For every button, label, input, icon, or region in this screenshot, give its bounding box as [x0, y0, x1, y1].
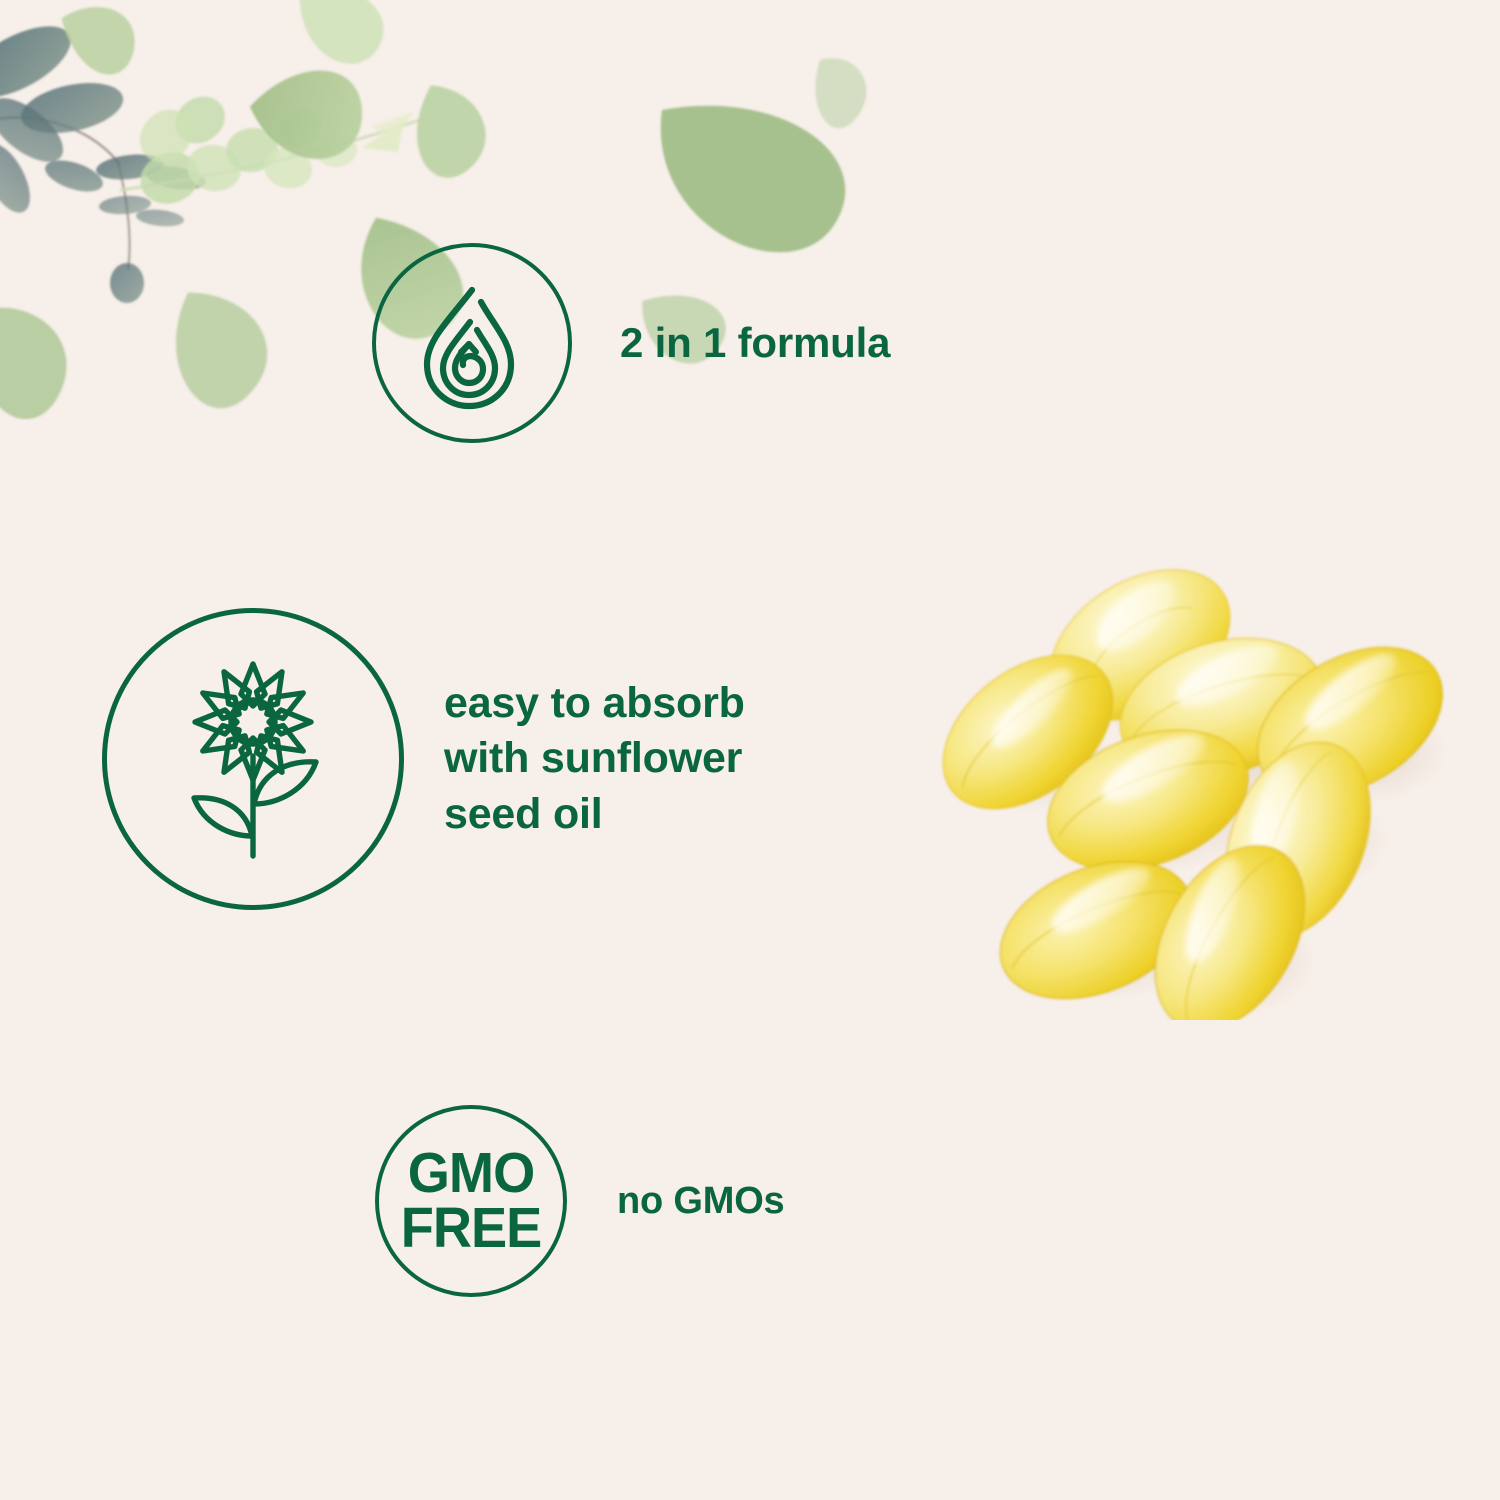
feature-label-absorb: easy to absorb with sunflower seed oil [444, 676, 745, 841]
sunflower-icon [138, 644, 368, 874]
feature-row-absorb: easy to absorb with sunflower seed oil [102, 608, 745, 910]
gmo-badge-line1: GMO [401, 1146, 542, 1201]
softgel-capsules-photo [900, 500, 1480, 1020]
gmo-free-badge-text: GMO FREE [401, 1146, 542, 1255]
feature-label-absorb-line3: seed oil [444, 787, 745, 842]
eucalyptus-branch-light [120, 87, 420, 212]
edge-leaf-fragments [815, 58, 866, 128]
feature-label-absorb-line1: easy to absorb [444, 676, 745, 731]
feature-row-formula: 2 in 1 formula [372, 243, 890, 443]
feature-label-formula: 2 in 1 formula [620, 319, 890, 367]
feature-label-absorb-line2: with sunflower [444, 731, 745, 786]
feature-label-gmo: no GMOs [617, 1180, 785, 1223]
feature-row-gmo: GMO FREE no GMOs [375, 1105, 785, 1297]
water-drop-spiral-icon [397, 268, 547, 418]
gmo-badge-line2: FREE [401, 1201, 542, 1256]
water-drop-spiral-icon-circle [372, 243, 572, 443]
infographic-canvas: 2 in 1 formula [0, 0, 1500, 1500]
eucalyptus-sprig-dark [0, 12, 207, 303]
gmo-free-badge-icon: GMO FREE [375, 1105, 567, 1297]
sunflower-icon-circle [102, 608, 404, 910]
